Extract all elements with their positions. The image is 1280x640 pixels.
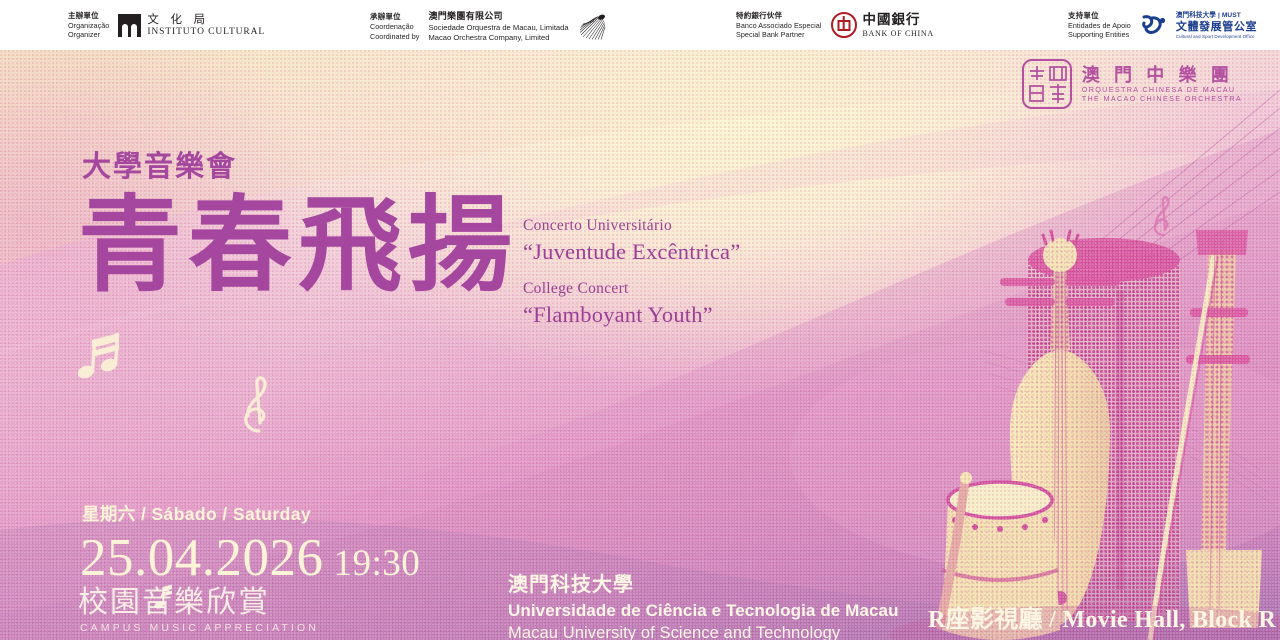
macao-orchestra-bird-icon: [575, 14, 609, 40]
instituto-cultural-gate-icon: [118, 14, 141, 37]
subtitle-en-label: College Concert: [523, 279, 740, 300]
sponsor-supporting-entities: 支持單位 Entidades de Apoio Supporting Entit…: [1068, 11, 1257, 40]
role-pt: Banco Associado Especial: [736, 21, 822, 31]
date-time-line: 25.04.202619:30: [80, 528, 420, 588]
bank-of-china-name-en: BANK OF CHINA: [863, 29, 934, 39]
role-pt: Coordenação: [370, 22, 419, 32]
sponsor-role-supporting: 支持單位 Entidades de Apoio Supporting Entit…: [1068, 11, 1131, 40]
role-en: Special Bank Partner: [736, 30, 822, 40]
role-zh: 特約銀行伙伴: [736, 11, 822, 21]
macao-orchestra-name-zh: 澳門樂團有限公司: [428, 11, 568, 23]
series-name-en: CAMPUS MUSIC APPRECIATION: [80, 622, 319, 634]
kicker-title: 大學音樂會: [82, 143, 237, 185]
sponsor-organizer: 主辦單位 Organização Organizer 文 化 局 INSTITU…: [68, 11, 265, 40]
subtitle-pt-label: Concerto Universitário: [523, 216, 740, 237]
orchestra-logo: 澳 門 中 樂 團 ORQUESTRA CHINESA DE MACAU THE…: [1021, 58, 1242, 110]
venue-name-en: Macau University of Science and Technolo…: [508, 622, 899, 640]
must-logo: 澳門科技大學 | MUST 文體發展管公室 Cultural and Sport…: [1140, 12, 1257, 39]
venue-name-pt: Universidade de Ciência e Tecnologia de …: [508, 599, 899, 622]
sponsor-role-bank: 特約銀行伙伴 Banco Associado Especial Special …: [736, 11, 822, 40]
sponsor-role-organizer: 主辦單位 Organização Organizer: [68, 11, 109, 40]
series-note-icon: [154, 584, 176, 610]
venue-block: 澳門科技大學 Universidade de Ciência e Tecnolo…: [508, 571, 899, 640]
weekday-label: 星期六 / Sábado / Saturday: [82, 501, 311, 526]
bank-of-china-logo: 中國銀行 BANK OF CHINA: [831, 12, 934, 38]
macao-orchestra-logo: 澳門樂團有限公司 Sociedade Orquestra de Macau, L…: [428, 11, 608, 42]
instituto-cultural-logo: 文 化 局 INSTITUTO CULTURAL: [118, 12, 265, 38]
subtitle-block: Concerto Universitário “Juventude Excênt…: [523, 216, 740, 342]
venue-name-zh: 澳門科技大學: [508, 571, 899, 599]
must-name-top: 澳門科技大學 | MUST: [1176, 12, 1257, 20]
sponsor-coordinator: 承辦單位 Coordenação Coordinated by 澳門樂團有限公司…: [370, 11, 609, 42]
macao-orchestra-name-pt: Sociedade Orquestra de Macau, Limitada: [428, 23, 568, 33]
bank-of-china-emblem-icon: [831, 12, 857, 38]
treble-clef-icon: [238, 375, 278, 433]
subtitle-pt-title: “Juventude Excêntrica”: [523, 237, 740, 266]
sponsor-role-coordinator: 承辦單位 Coordenação Coordinated by: [370, 12, 419, 41]
must-name-en: Cultural and Sport Development Office: [1176, 34, 1257, 40]
eighth-notes-icon: [78, 330, 122, 382]
role-zh: 支持單位: [1068, 11, 1131, 21]
must-name-zh: 文體發展管公室: [1176, 20, 1257, 34]
series-name-zh: 校園音樂欣賞: [78, 588, 319, 618]
poster-artwork: 大學音樂會 青春飛揚 Concerto Universitário “Juven…: [0, 50, 1280, 640]
subtitle-en: College Concert “Flamboyant Youth”: [523, 279, 740, 329]
instituto-cultural-name-en: INSTITUTO CULTURAL: [147, 27, 265, 39]
event-time: 19:30: [334, 543, 421, 584]
bank-of-china-name-zh: 中國銀行: [863, 12, 934, 28]
concert-poster: 主辦單位 Organização Organizer 文 化 局 INSTITU…: [0, 0, 1280, 640]
subtitle-en-title: “Flamboyant Youth”: [523, 300, 740, 329]
subtitle-pt: Concerto Universitário “Juventude Excênt…: [523, 216, 740, 266]
treble-clef-small-icon: [1150, 195, 1178, 237]
page-title: 青春飛揚: [78, 193, 518, 297]
role-en: Supporting Entities: [1068, 30, 1131, 40]
sponsor-logo-bar: 主辦單位 Organização Organizer 文 化 局 INSTITU…: [0, 0, 1280, 50]
role-en: Organizer: [68, 30, 109, 40]
must-swirl-icon: [1140, 14, 1170, 36]
role-zh: 主辦單位: [68, 11, 109, 21]
role-en: Coordinated by: [370, 32, 419, 42]
hall-label: R座影視廳 / Movie Hall, Block R: [928, 599, 1276, 634]
role-pt: Entidades de Apoio: [1068, 21, 1131, 31]
macao-orchestra-name-en: Macao Orchestra Company, Limited: [428, 33, 568, 43]
event-date: 25.04.2026: [80, 529, 324, 587]
sponsor-bank-partner: 特約銀行伙伴 Banco Associado Especial Special …: [736, 11, 934, 40]
series-logo: 校園音樂欣賞 CAMPUS MUSIC APPRECIATION: [78, 588, 319, 634]
orchestra-seal-icon: [1021, 58, 1073, 110]
orchestra-name-zh: 澳 門 中 樂 團: [1082, 65, 1242, 87]
orchestra-name-en: THE MACAO CHINESE ORCHESTRA: [1082, 95, 1242, 104]
instituto-cultural-name-zh: 文 化 局: [147, 12, 265, 26]
role-zh: 承辦單位: [370, 12, 419, 22]
role-pt: Organização: [68, 21, 109, 31]
